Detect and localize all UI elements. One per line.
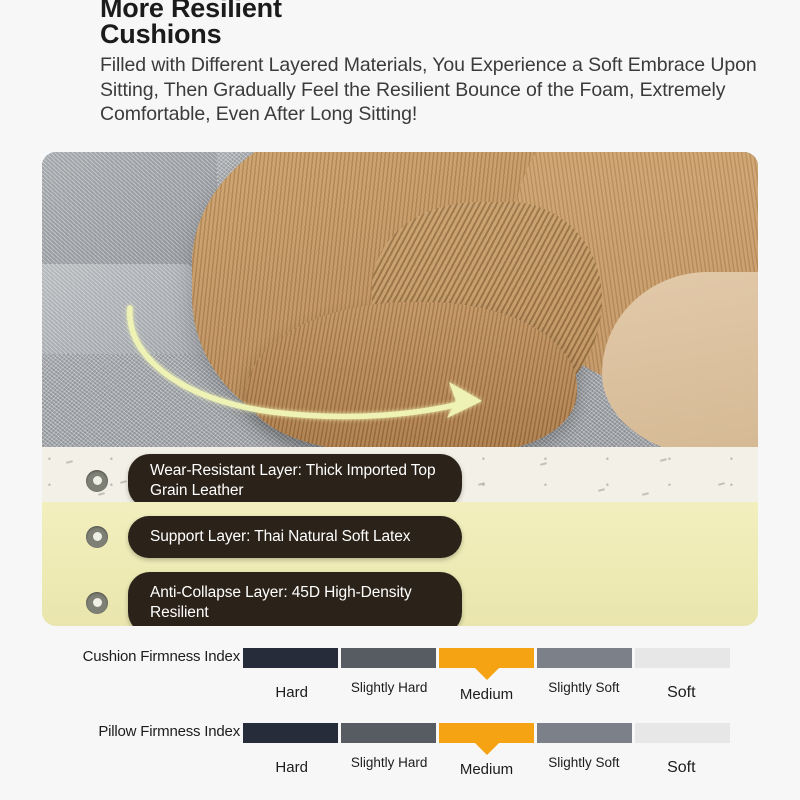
segment-soft[interactable] [635, 723, 730, 743]
layer-latex-foam: Support Layer: Thai Natural Soft Latex A… [42, 502, 758, 626]
segment-soft[interactable] [635, 648, 730, 668]
layer-label-support: Support Layer: Thai Natural Soft Latex [128, 516, 462, 558]
segment-medium[interactable] [439, 723, 534, 743]
tick-hard: Hard [275, 759, 308, 776]
cushion-firmness-ticks: Hard Slightly Hard Medium Slightly Soft … [243, 680, 730, 702]
cushion-photo [42, 152, 758, 447]
tick-medium: Medium [460, 686, 513, 703]
page-title: More Resilient Cushions [100, 0, 760, 47]
tick-slightly-hard: Slightly Hard [351, 680, 428, 695]
segment-slightly-soft[interactable] [537, 723, 632, 743]
segment-hard[interactable] [243, 648, 338, 668]
tick-slightly-soft: Slightly Soft [548, 680, 619, 695]
pillow-firmness-bar[interactable] [243, 723, 730, 743]
layer-row-anti-collapse: Anti-Collapse Layer: 45D High-Density Re… [86, 572, 462, 626]
segment-medium[interactable] [439, 648, 534, 668]
selected-pointer-icon [474, 667, 500, 680]
tick-slightly-soft: Slightly Soft [548, 755, 619, 770]
selected-pointer-icon [474, 742, 500, 755]
pillow-firmness-ticks: Hard Slightly Hard Medium Slightly Soft … [243, 755, 730, 777]
segment-slightly-hard[interactable] [341, 648, 436, 668]
grommet-icon [86, 592, 108, 614]
layer-label-wear-resistant: Wear-Resistant Layer: Thick Imported Top… [128, 454, 462, 508]
tick-slightly-hard: Slightly Hard [351, 755, 428, 770]
tick-hard: Hard [275, 684, 308, 701]
cushion-firmness-label: Cushion Firmness Index [83, 648, 240, 665]
tick-soft: Soft [667, 684, 695, 702]
product-card: Wear-Resistant Layer: Thick Imported Top… [42, 152, 758, 626]
layer-label-anti-collapse: Anti-Collapse Layer: 45D High-Density Re… [128, 572, 462, 626]
tick-soft: Soft [667, 759, 695, 777]
layer-row-wear-resistant: Wear-Resistant Layer: Thick Imported Top… [86, 454, 462, 508]
segment-slightly-hard[interactable] [341, 723, 436, 743]
cushion-firmness-bar[interactable] [243, 648, 730, 668]
grommet-icon [86, 470, 108, 492]
header: More Resilient Cushions Filled with Diff… [100, 0, 760, 127]
layer-wear-resistant: Wear-Resistant Layer: Thick Imported Top… [42, 447, 758, 502]
gray-backrest-panel [42, 152, 217, 266]
tick-medium: Medium [460, 761, 513, 778]
page-subtitle: Filled with Different Layered Materials,… [100, 53, 760, 127]
gray-seat-panel [42, 264, 205, 354]
segment-hard[interactable] [243, 723, 338, 743]
segment-slightly-soft[interactable] [537, 648, 632, 668]
grommet-icon [86, 526, 108, 548]
layer-row-support: Support Layer: Thai Natural Soft Latex [86, 516, 462, 558]
pillow-firmness-label: Pillow Firmness Index [98, 723, 240, 740]
